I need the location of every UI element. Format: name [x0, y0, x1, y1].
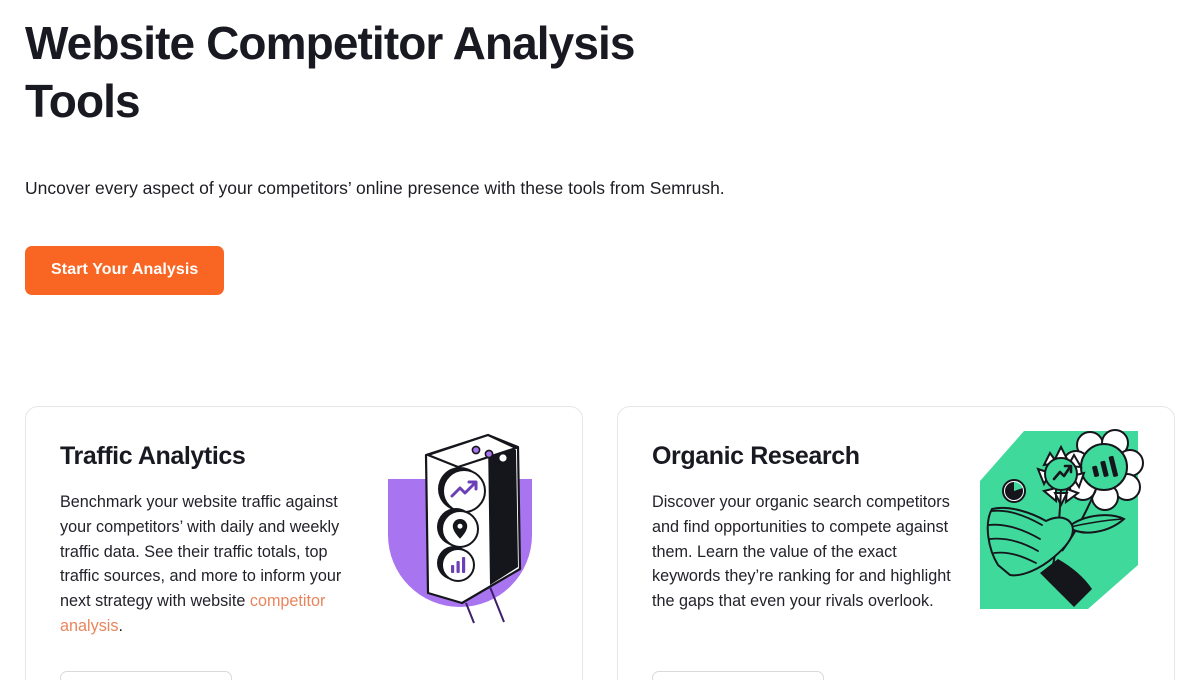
- card-organic-research[interactable]: Organic Research Discover your organic s…: [617, 406, 1175, 680]
- start-your-analysis-button[interactable]: Start Your Analysis: [25, 246, 224, 295]
- tool-cards: Traffic Analytics Benchmark your website…: [25, 406, 1175, 680]
- card-title: Organic Research: [652, 441, 1140, 471]
- try-organic-research-button[interactable]: Try Organic Research: [652, 671, 824, 680]
- try-traffic-analytics-button[interactable]: Try Traffic Analytics: [60, 671, 232, 680]
- page-root: Website Competitor Analysis Tools Uncove…: [0, 0, 1200, 680]
- card-description-tail: .: [118, 617, 123, 635]
- card-traffic-analytics[interactable]: Traffic Analytics Benchmark your website…: [25, 406, 583, 680]
- page-title: Website Competitor Analysis Tools: [25, 14, 725, 130]
- card-description: Discover your organic search competitors…: [652, 490, 952, 614]
- hero-section: Website Competitor Analysis Tools Uncove…: [25, 14, 785, 295]
- hero-subtitle: Uncover every aspect of your competitors…: [25, 173, 765, 204]
- card-title: Traffic Analytics: [60, 441, 548, 471]
- card-description-text: Discover your organic search competitors…: [652, 493, 951, 610]
- card-description: Benchmark your website traffic against y…: [60, 490, 360, 639]
